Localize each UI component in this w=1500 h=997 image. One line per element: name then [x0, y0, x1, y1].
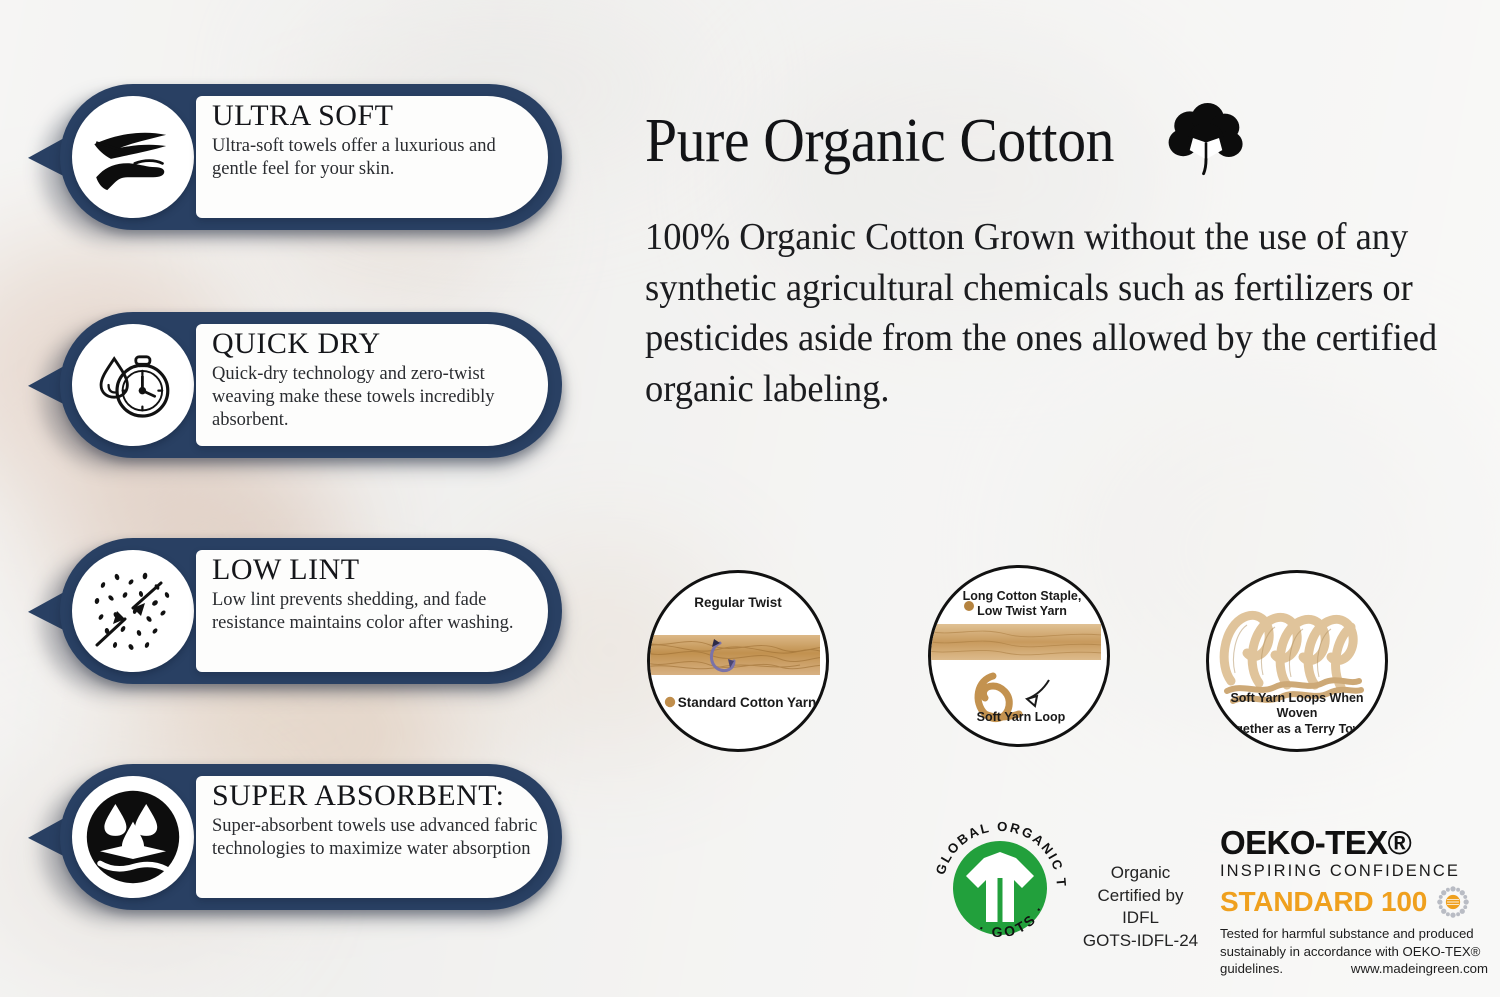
low-twist-yarn-loop-icon: Long Cotton Staple, Low Twist Yarn Soft … — [928, 565, 1110, 747]
droplet-stopwatch-icon — [72, 324, 194, 446]
feature-card-quick-dry[interactable]: QUICK DRY Quick-dry technology and zero-… — [28, 312, 568, 464]
page-title: Pure Organic Cotton — [645, 106, 1114, 177]
oeko-tex-badge: OEKO-TEX® INSPIRING CONFIDENCE STANDARD … — [1220, 826, 1488, 978]
oeko-tex-standard: STANDARD 100 — [1220, 888, 1427, 916]
feature-card-ultra-soft[interactable]: ULTRA SOFT Ultra-soft towels offer a lux… — [28, 84, 568, 236]
gots-certification-badge: GLOBAL ORGANIC TEXTILE STANDARD · GOTS · — [930, 818, 1070, 958]
feature-title: QUICK DRY — [212, 328, 542, 360]
oeko-tex-url: www.madeingreen.com — [1351, 960, 1488, 978]
feature-description: Super-absorbent towels use advanced fabr… — [212, 815, 542, 862]
diagram-bottom-label: Soft Yarn Loop — [951, 710, 1091, 725]
lint-particles-arrows-icon — [72, 550, 194, 672]
feature-title: SUPER ABSORBENT: — [212, 780, 542, 812]
feature-card-super-absorbent[interactable]: SUPER ABSORBENT: Super-absorbent towels … — [28, 764, 568, 916]
certification-row: GLOBAL ORGANIC TEXTILE STANDARD · GOTS ·… — [930, 800, 1500, 990]
droplets-absorbing-fabric-icon — [72, 776, 194, 898]
gots-caption-line3: GOTS-IDFL-24 — [1078, 930, 1203, 953]
diagram-bottom-label: Standard Cotton Yarn — [668, 695, 826, 711]
oeko-tex-fine-print: Tested for harmful substance and produce… — [1220, 925, 1488, 978]
feature-title: LOW LINT — [212, 554, 542, 586]
hand-feather-icon — [72, 96, 194, 218]
intro-paragraph: 100% Organic Cotton Grown without the us… — [645, 212, 1440, 414]
oeko-fine-line3: guidelines. — [1220, 960, 1283, 978]
feature-card-low-lint[interactable]: LOW LINT Low lint prevents shedding, and… — [28, 538, 568, 690]
right-content-column: Pure Organic Cotton 100% Organic Cotton … — [640, 0, 1500, 997]
diagram-bottom-label: Soft Yarn Loops When Woven Together as a… — [1213, 691, 1381, 737]
yarn-diagram-row: Regular Twist Standard Cotton Yarn — [640, 560, 1500, 760]
diagram-top-label: Regular Twist — [650, 595, 826, 611]
oeko-tex-tagline: INSPIRING CONFIDENCE — [1220, 862, 1488, 881]
diagram-top-label: Long Cotton Staple, Low Twist Yarn — [947, 589, 1097, 620]
infographic-canvas: ULTRA SOFT Ultra-soft towels offer a lux… — [0, 0, 1500, 997]
oeko-fine-line1: Tested for harmful substance and produce… — [1220, 925, 1488, 943]
cotton-boll-icon — [1165, 103, 1248, 179]
feature-card-list: ULTRA SOFT Ultra-soft towels offer a lux… — [0, 0, 600, 997]
feature-description: Quick-dry technology and zero-twist weav… — [212, 363, 542, 433]
gots-caption: Organic Certified by IDFL GOTS-IDFL-24 — [1078, 862, 1203, 952]
gots-caption-line2: Certified by IDFL — [1078, 885, 1203, 930]
feature-description: Ultra-soft towels offer a luxurious and … — [212, 135, 542, 182]
twisted-yarn-strand-icon: Regular Twist Standard Cotton Yarn — [647, 570, 829, 752]
headline-row: Pure Organic Cotton — [645, 103, 1245, 179]
oeko-fine-line2: sustainably in accordance with OEKO-TEX® — [1220, 943, 1488, 961]
oeko-tex-brand: OEKO-TEX® — [1220, 826, 1488, 859]
made-in-green-sun-icon — [1436, 885, 1470, 919]
feature-title: ULTRA SOFT — [212, 100, 542, 132]
feature-description: Low lint prevents shedding, and fade res… — [212, 589, 542, 636]
gots-caption-line1: Organic — [1078, 862, 1203, 885]
terry-towel-loops-icon: Soft Yarn Loops When Woven Together as a… — [1206, 570, 1388, 752]
